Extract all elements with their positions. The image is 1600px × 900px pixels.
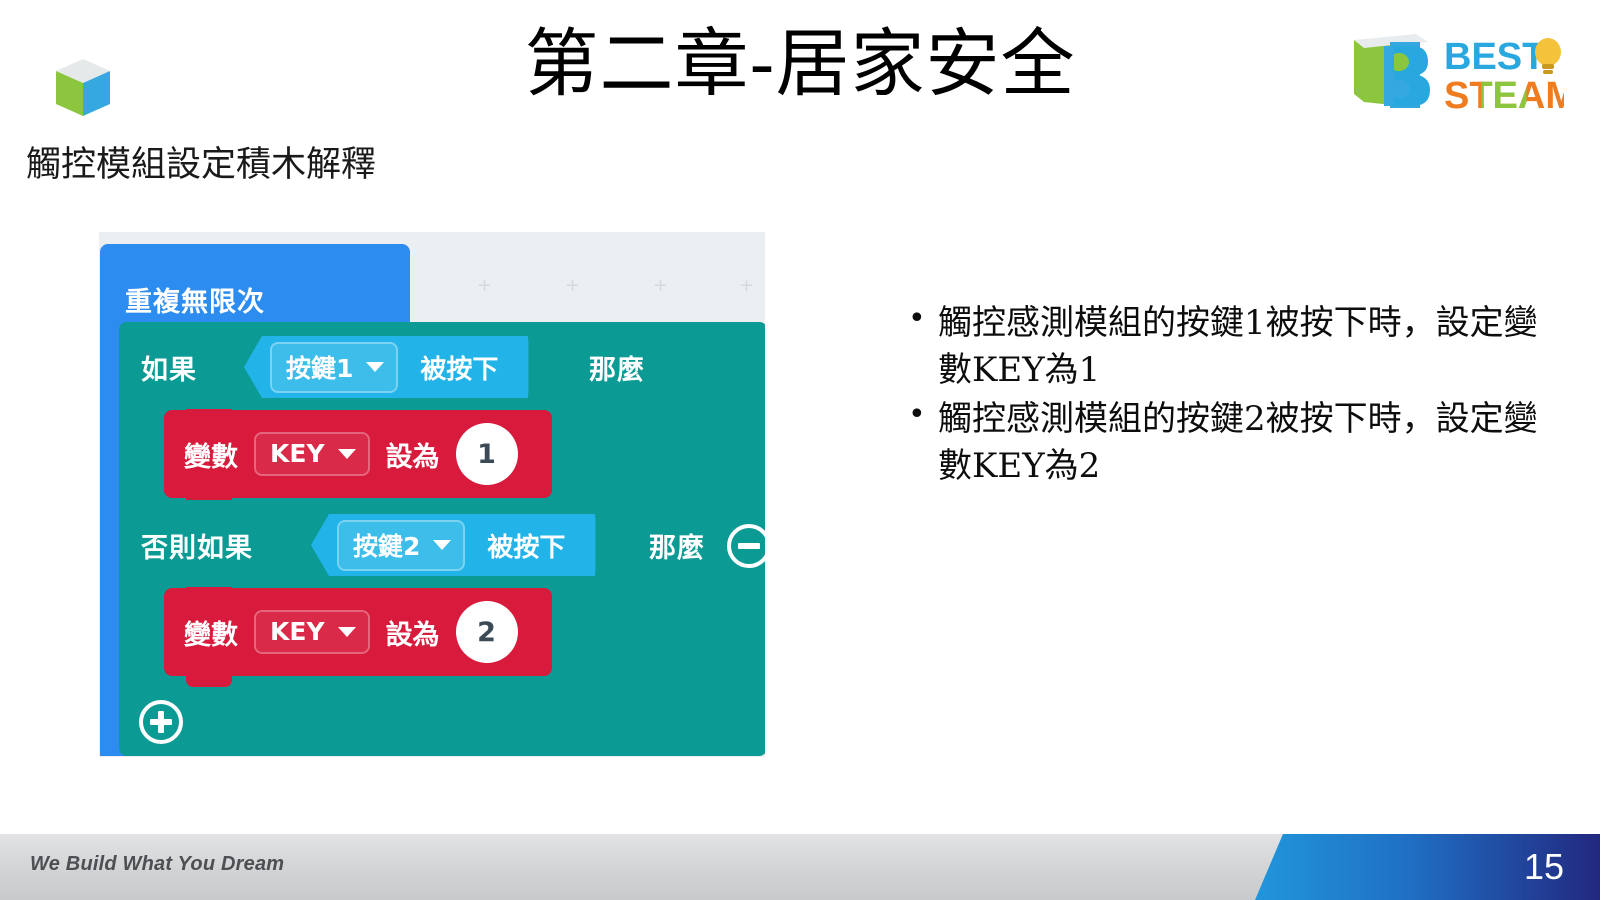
if-condition-row[interactable]: 如果 按鍵1 被按下 那麼: [119, 322, 765, 412]
else-if-condition-row[interactable]: 否則如果 按鍵2 被按下 那麼: [119, 500, 765, 590]
grid-marker: +: [477, 277, 492, 295]
chevron-down-icon: [338, 449, 356, 459]
list-item: 觸控感測模組的按鍵2被按下時，設定變數KEY為2: [900, 396, 1560, 490]
set-variable-block-1[interactable]: 變數 KEY 設為 1: [164, 410, 552, 498]
block-notch: [186, 587, 232, 598]
key-dropdown-2[interactable]: 按鍵2: [337, 520, 465, 571]
best-steam-logo: BEST STEAM STEAM: [1324, 24, 1564, 116]
variable-name-label-1: KEY: [270, 439, 325, 468]
key-dropdown-label-2: 按鍵2: [353, 527, 420, 563]
grid-marker: +: [653, 277, 668, 295]
variable-value-input-2[interactable]: 2: [456, 601, 518, 663]
repeat-forever-label: 重複無限次: [125, 280, 265, 319]
slide-root: 第二章-居家安全 觸控模組設定積木解釋 BEST STEAM STEAM +: [0, 0, 1600, 900]
footer: We Build What You Dream 15: [0, 834, 1600, 900]
set-to-keyword-1: 設為: [386, 435, 440, 474]
key-dropdown-label-1: 按鍵1: [286, 349, 353, 385]
chevron-down-icon: [366, 362, 384, 372]
chevron-down-icon: [433, 540, 451, 550]
if-keyword: 如果: [141, 348, 197, 387]
block-notch: [186, 409, 232, 420]
chevron-down-icon: [338, 627, 356, 637]
page-subtitle: 觸控模組設定積木解釋: [26, 136, 376, 187]
blocks-canvas[interactable]: + + + + + + + + + + 重複無限次 如果 按鍵1: [99, 232, 765, 757]
then-keyword-2: 那麼: [649, 526, 705, 565]
key-dropdown-1[interactable]: 按鍵1: [270, 342, 398, 393]
list-item: 觸控感測模組的按鍵1被按下時，設定變數KEY為1: [900, 300, 1560, 394]
pressed-label-1: 被按下: [420, 349, 498, 386]
block-notch: [186, 675, 232, 687]
page-number: 15: [1524, 846, 1564, 888]
if-else-block[interactable]: 如果 按鍵1 被按下 那麼 變數 KEY: [119, 322, 765, 756]
pressed-label-2: 被按下: [487, 527, 565, 564]
variable-keyword-2: 變數: [184, 613, 238, 652]
then-keyword-1: 那麼: [589, 348, 645, 387]
condition-hex-block-1[interactable]: 按鍵1 被按下: [244, 336, 528, 398]
variable-name-dropdown-1[interactable]: KEY: [254, 432, 370, 476]
brand-best-text: BEST: [1444, 36, 1545, 78]
else-if-keyword: 否則如果: [141, 526, 253, 565]
set-variable-block-2[interactable]: 變數 KEY 設為 2: [164, 588, 552, 676]
grid-marker: +: [565, 277, 580, 295]
variable-keyword-1: 變數: [184, 435, 238, 474]
minus-circle-icon[interactable]: [727, 524, 765, 568]
footer-tagline: We Build What You Dream: [30, 853, 284, 876]
set-to-keyword-2: 設為: [386, 613, 440, 652]
grid-marker: +: [739, 277, 754, 295]
plus-circle-icon[interactable]: [139, 700, 183, 744]
bullet-list: 觸控感測模組的按鍵1被按下時，設定變數KEY為1 觸控感測模組的按鍵2被按下時，…: [900, 300, 1560, 492]
variable-name-dropdown-2[interactable]: KEY: [254, 610, 370, 654]
condition-hex-block-2[interactable]: 按鍵2 被按下: [311, 514, 595, 576]
variable-value-input-1[interactable]: 1: [456, 423, 518, 485]
variable-name-label-2: KEY: [270, 617, 325, 646]
